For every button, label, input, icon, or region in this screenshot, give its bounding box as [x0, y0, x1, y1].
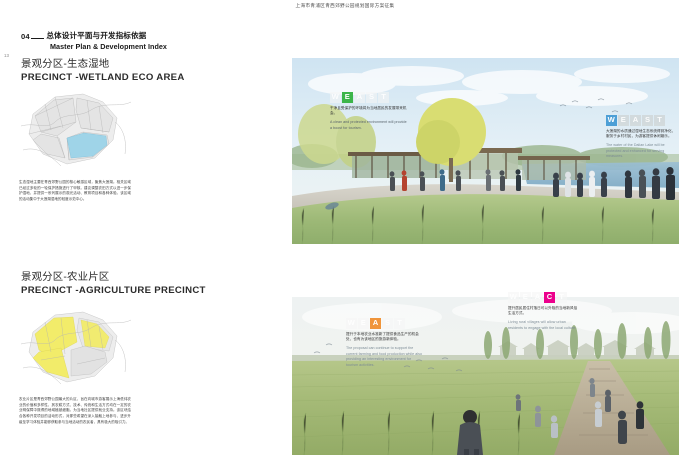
- page-number: 13: [4, 53, 9, 58]
- precinct-1-caption: 生态湿地主要在青西郊野公园的核心敏感区域，聚焦大莲湖。相关区域已经过多轮的一轮保…: [19, 180, 131, 203]
- running-header: 上海市青浦区青西郊野公园规划国际方案征集: [0, 3, 690, 9]
- letter-box-s[interactable]: S: [642, 115, 653, 126]
- letter-box-s[interactable]: S: [366, 92, 377, 103]
- eco-letter-row: W E A S T: [330, 92, 408, 103]
- letter-box-w[interactable]: W: [346, 318, 357, 329]
- letter-box-c-active[interactable]: C: [544, 292, 555, 303]
- letter-box-e[interactable]: E: [358, 318, 369, 329]
- precinct-2-caption: 农业片区是青西郊野公园最大的片区，旨在向城市游客展示上海低纬农业的价值和多样性，…: [19, 397, 131, 425]
- presentation-page: 上海市青浦区青西郊野公园规划国际方案征集 13 04 总体设计平面与开发指标依据…: [0, 0, 690, 460]
- agriculture-annotation-en: The proposal can continue to support the…: [346, 346, 424, 368]
- letter-box-t[interactable]: T: [556, 292, 567, 303]
- precinct-2-title-cn: 景观分区-农业片区: [21, 268, 206, 283]
- eco-annotation-en: A clean and protected environment will p…: [330, 120, 408, 131]
- wetland-annotation-cn: 大莲湖的水质通过湿地生态系统得到净化，服务于乡村村民，为游客提供休闲娱乐。: [606, 129, 678, 140]
- letter-box-a-active[interactable]: A: [370, 318, 381, 329]
- letter-box-a[interactable]: A: [532, 292, 543, 303]
- letter-box-t[interactable]: T: [654, 115, 665, 126]
- section-title-cn: 总体设计平面与开发指标依据: [46, 30, 146, 41]
- letter-box-t[interactable]: T: [394, 318, 405, 329]
- letter-box-w[interactable]: W: [330, 92, 341, 103]
- letter-box-a[interactable]: A: [630, 115, 641, 126]
- precinct-2-title-en: PRECINCT -AGRICULTURE PRECINCT: [21, 285, 206, 296]
- letter-box-a[interactable]: A: [354, 92, 365, 103]
- agriculture-annotation-cn: 提升于本地农业水准新了提供食品生产的机会处，也有为该地区的旅游新体验。: [346, 332, 424, 343]
- letter-box-e[interactable]: E: [618, 115, 629, 126]
- wetland-annotation: W E A S T 大莲湖的水质通过湿地生态系统得到净化，服务于乡村村民，为游客…: [606, 115, 678, 160]
- wetland-eco-keyplan: [21, 88, 131, 176]
- agriculture-keyplan: [21, 306, 131, 394]
- letter-box-s[interactable]: S: [382, 318, 393, 329]
- letter-box-t[interactable]: T: [378, 92, 389, 103]
- culture-letter-row: W E A C T: [508, 292, 580, 303]
- section-rule: [31, 38, 44, 39]
- precinct-1-heading: 景观分区-生态湿地 PRECINCT -WETLAND ECO AREA: [21, 55, 185, 83]
- letter-box-e[interactable]: E: [520, 292, 531, 303]
- culture-annotation-en: Living rural villages will allow urban r…: [508, 320, 580, 331]
- section-heading: 04 总体设计平面与开发指标依据 Master Plan & Developme…: [21, 30, 167, 51]
- letter-box-w-active[interactable]: W: [606, 115, 617, 126]
- precinct-1-title-cn: 景观分区-生态湿地: [21, 55, 185, 70]
- culture-annotation-cn: 提升居民居住村落日可以外吸的当地新风俗生活方式。: [508, 306, 580, 317]
- letter-box-w[interactable]: W: [508, 292, 519, 303]
- precinct-2-heading: 景观分区-农业片区 PRECINCT -AGRICULTURE PRECINCT: [21, 268, 206, 296]
- letter-box-e-active[interactable]: E: [342, 92, 353, 103]
- eco-annotation: W E A S T 干净且受保护的环境将为当地居民的发展带来机会。 A clea…: [330, 92, 408, 131]
- wetland-letter-row: W E A S T: [606, 115, 678, 126]
- section-number: 04: [21, 32, 30, 41]
- section-title-en: Master Plan & Development Index: [50, 42, 167, 51]
- precinct-1-title-en: PRECINCT -WETLAND ECO AREA: [21, 72, 185, 83]
- wetland-annotation-en: The water of the Dalian Lake will be pro…: [606, 143, 678, 160]
- agriculture-letter-row: W E A S T: [346, 318, 424, 329]
- culture-annotation: W E A C T 提升居民居住村落日可以外吸的当地新风俗生活方式。 Livin…: [508, 292, 580, 331]
- eco-annotation-cn: 干净且受保护的环境将为当地居民的发展带来机会。: [330, 106, 408, 117]
- keyplan-1-highlight: [67, 133, 107, 158]
- agriculture-annotation: W E A S T 提升于本地农业水准新了提供食品生产的机会处，也有为该地区的旅…: [346, 318, 424, 368]
